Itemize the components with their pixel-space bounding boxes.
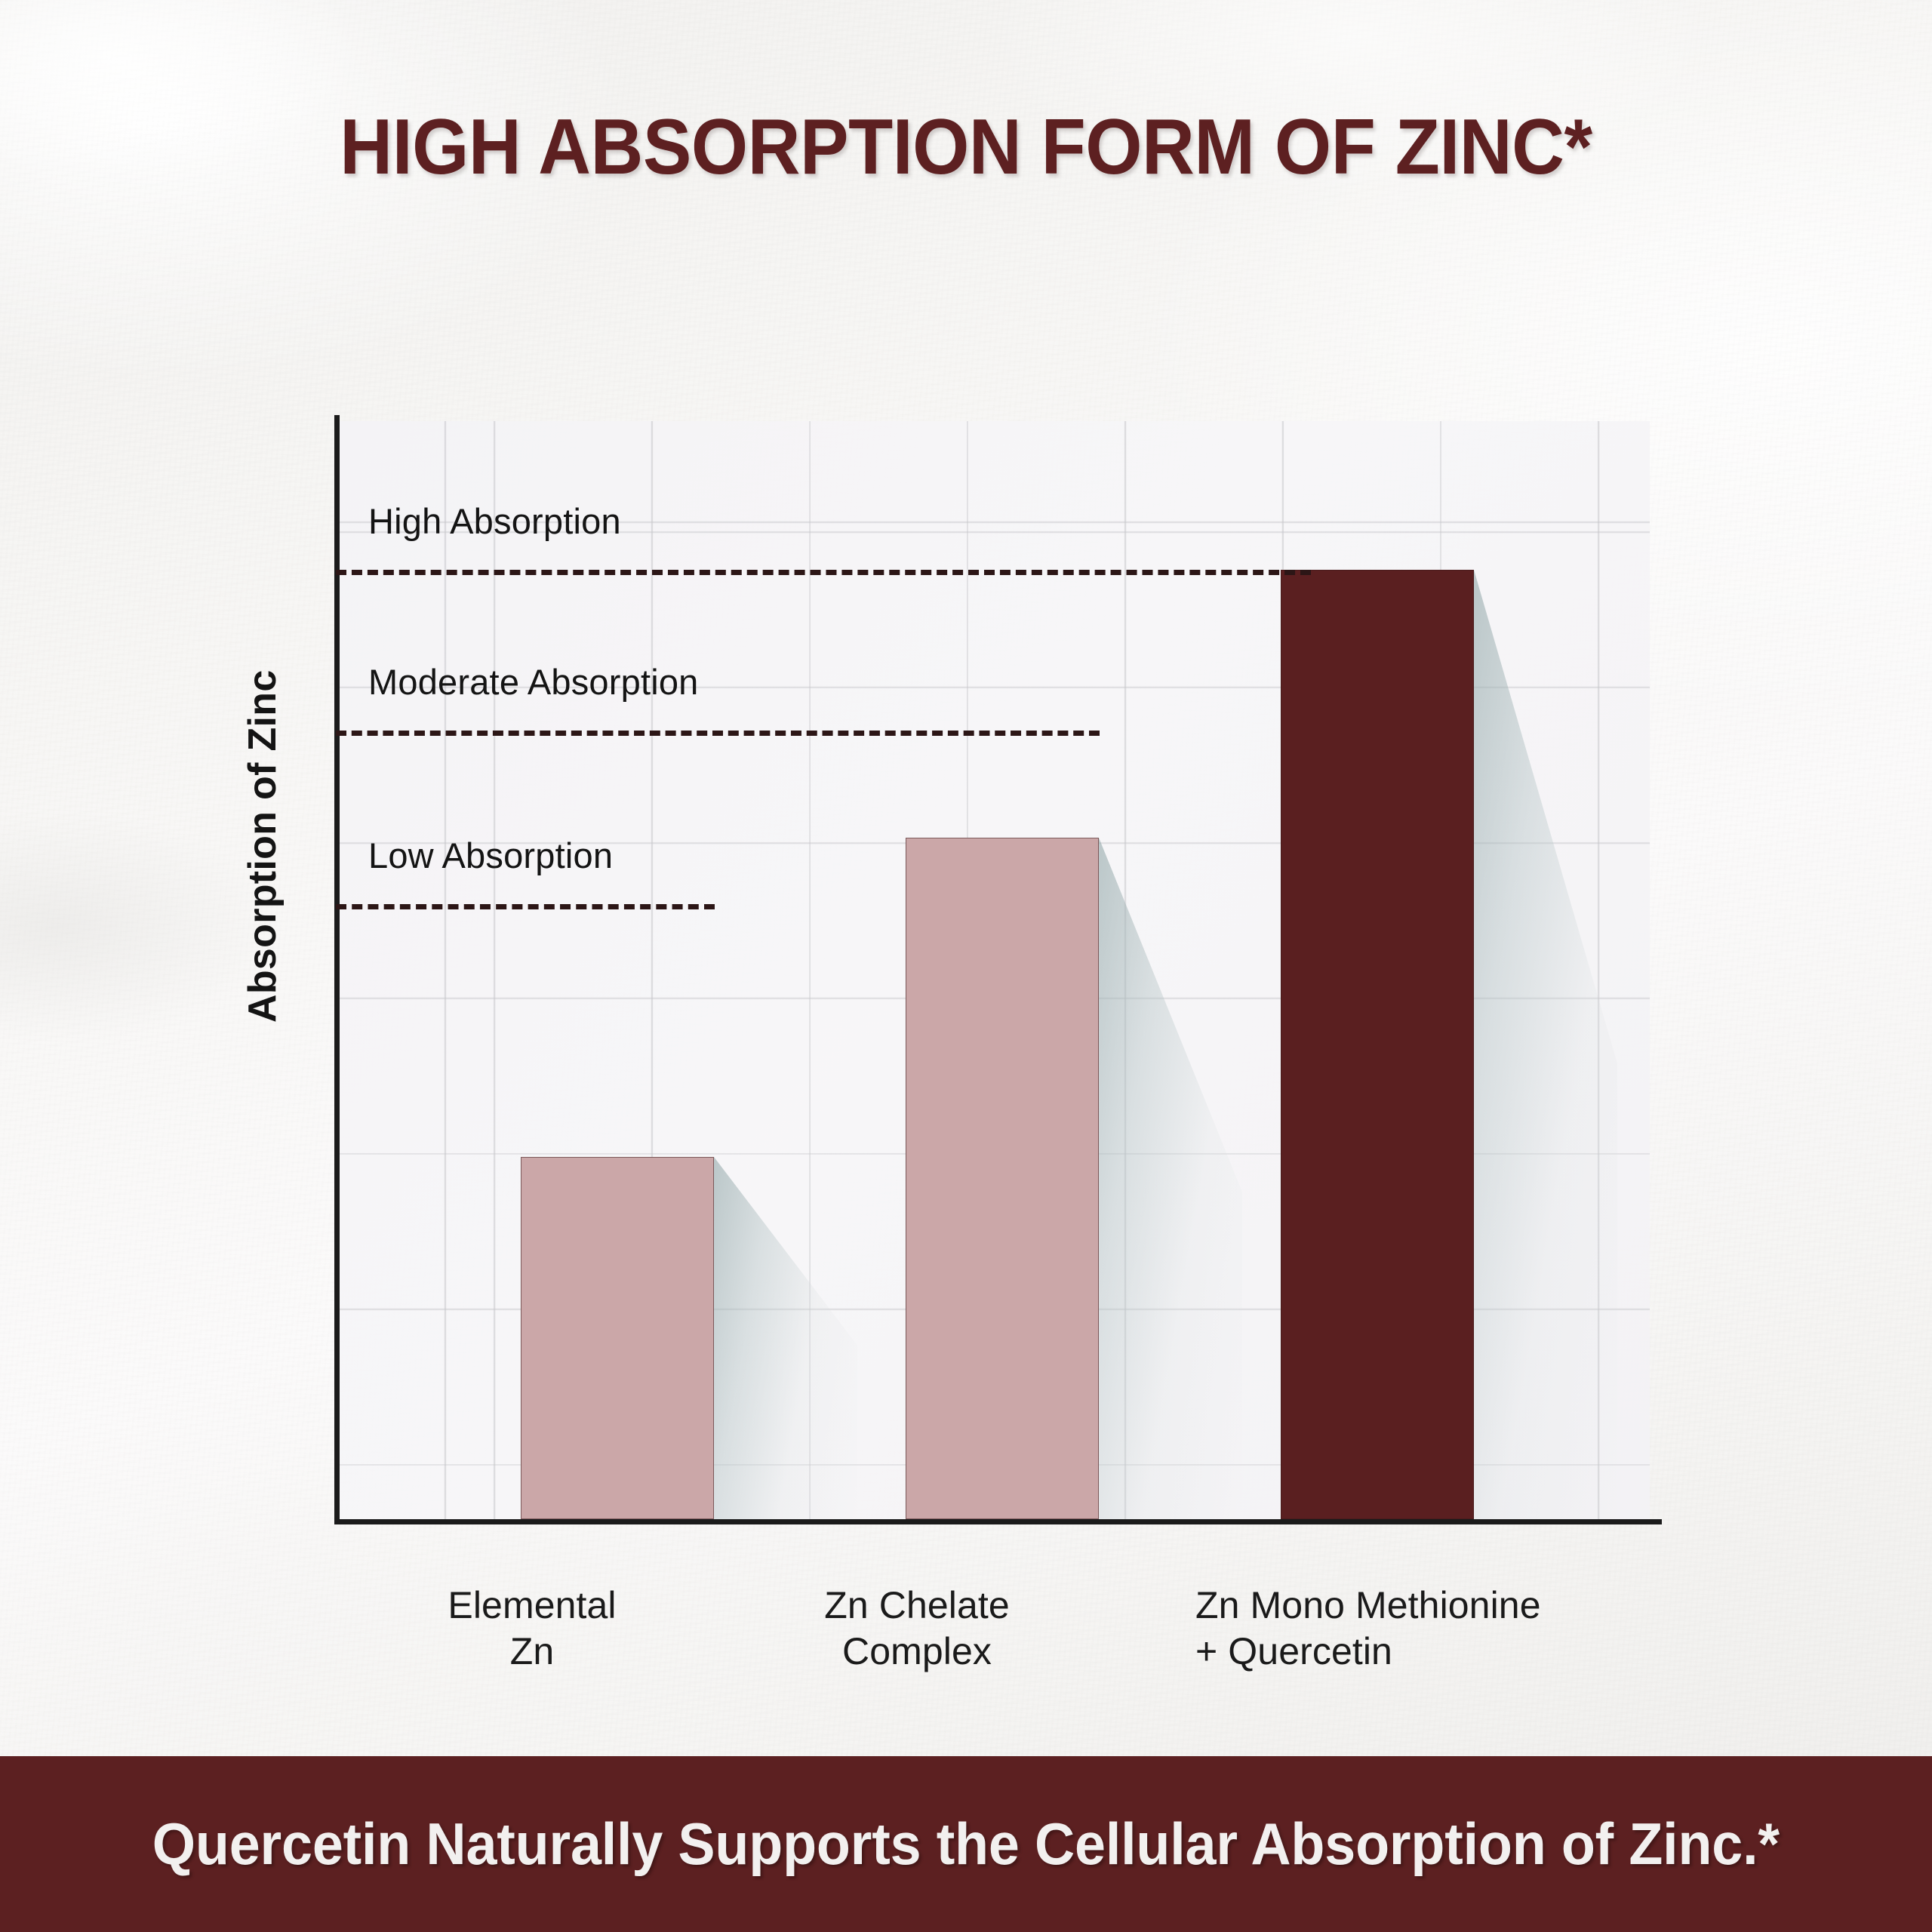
category-label-zn-chelate-complex: Zn Chelate Complex [820,1583,1014,1675]
bar-body [906,838,1099,1519]
bar-body [1281,570,1474,1519]
threshold-line-high [336,570,1311,575]
bar-zn-mono-methionine-quercetin [1281,570,1474,1519]
footer-banner: Quercetin Naturally Supports the Cellula… [0,1756,1932,1932]
y-axis-title: Absorption of Zinc [240,494,285,1023]
category-label-line: + Quercetin [1195,1629,1389,1675]
x-axis-line [334,1519,1662,1524]
category-label-line: Zn [435,1629,629,1675]
page-title: HIGH ABSORPTION FORM OF ZINC* [68,103,1865,192]
threshold-label-low: Low Absorption [368,835,613,876]
threshold-line-moderate [336,731,1100,736]
bar-elemental-zn [521,1157,714,1519]
threshold-label-moderate: Moderate Absorption [368,661,699,703]
threshold-line-low [336,904,715,909]
category-label-line: Zn Chelate [820,1583,1014,1629]
y-axis-line [334,415,340,1521]
threshold-label-high: High Absorption [368,500,621,542]
footer-banner-text: Quercetin Naturally Supports the Cellula… [152,1810,1780,1878]
category-label-line: Complex [820,1629,1014,1675]
category-label-line: Zn Mono Methionine [1195,1583,1389,1629]
category-label-line: Elemental [435,1583,629,1629]
category-label-zn-mono-methionine-quercetin: Zn Mono Methionine + Quercetin [1195,1583,1389,1675]
bar-body [521,1157,714,1519]
category-label-elemental-zn: Elemental Zn [435,1583,629,1675]
infographic-canvas: HIGH ABSORPTION FORM OF ZINC* High Absor… [0,0,1932,1932]
bar-zn-chelate-complex [906,838,1099,1519]
absorption-bar-chart [339,421,1650,1519]
